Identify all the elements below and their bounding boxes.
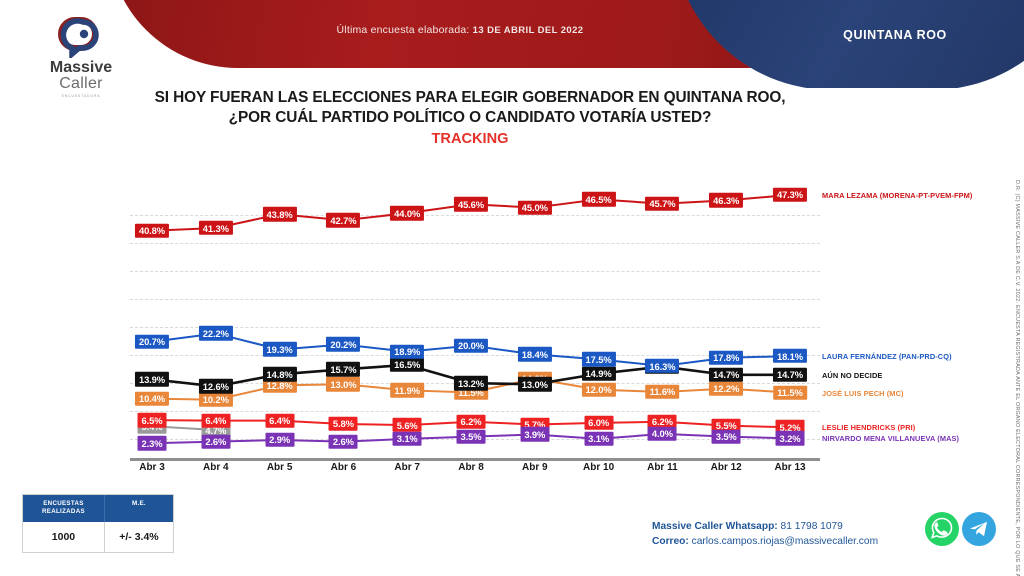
legend-item: NIRVARDO MENA VILLANUEVA (MAS) — [822, 434, 959, 443]
x-axis-tick: Abr 5 — [267, 462, 293, 473]
data-point-label: 6.5% — [138, 413, 167, 427]
data-point-label: 18.4% — [518, 347, 552, 361]
data-point-label: 15.7% — [326, 362, 360, 376]
data-point-label: 2.3% — [138, 436, 167, 450]
data-point-label: 43.8% — [263, 207, 297, 221]
x-axis-tick: Abr 3 — [139, 462, 165, 473]
email-address[interactable]: carlos.campos.riojas@massivecaller.com — [692, 536, 878, 547]
data-point-label: 6.0% — [584, 416, 613, 430]
data-point-label: 16.3% — [645, 359, 679, 373]
data-point-label: 45.0% — [518, 200, 552, 214]
email-label: Correo: — [652, 536, 689, 547]
data-point-label: 2.6% — [201, 434, 230, 448]
data-point-label: 14.7% — [773, 368, 807, 382]
data-point-label: 47.3% — [773, 188, 807, 202]
surveys-header: ENCUESTAS REALIZADAS — [23, 495, 104, 522]
state-name: QUINTANA ROO — [770, 28, 1020, 42]
data-point-label: 3.9% — [520, 427, 549, 441]
data-point-label: 45.7% — [645, 197, 679, 211]
data-point-label: 12.6% — [199, 379, 233, 393]
data-point-label: 6.2% — [457, 415, 486, 429]
telegram-icon[interactable] — [962, 512, 996, 546]
data-point-label: 3.1% — [393, 432, 422, 446]
data-point-label: 44.0% — [390, 206, 424, 220]
legend-item: LESLIE HENDRICKS (PRI) — [822, 423, 915, 432]
data-point-label: 11.5% — [773, 385, 807, 399]
chart-baseline — [130, 458, 820, 461]
data-point-label: 18.1% — [773, 349, 807, 363]
data-point-label: 2.6% — [329, 434, 358, 448]
data-point-label: 11.9% — [390, 383, 424, 397]
data-point-label: 13.9% — [135, 372, 169, 386]
whatsapp-icon[interactable] — [925, 512, 959, 546]
data-point-label: 17.5% — [582, 352, 616, 366]
tracking-line-chart: 5.4%4.7%10.4%10.2%12.8%13.0%11.9%11.5%14… — [130, 168, 820, 460]
data-point-label: 3.2% — [776, 431, 805, 445]
data-point-label: 16.5% — [390, 358, 424, 372]
survey-date-value: 13 DE ABRIL DEL 2022 — [473, 25, 584, 36]
data-point-label: 22.2% — [199, 326, 233, 340]
data-point-label: 40.8% — [135, 224, 169, 238]
data-point-label: 46.5% — [582, 192, 616, 206]
x-axis-tick: Abr 11 — [647, 462, 678, 473]
legend-item: JOSÉ LUIS PECH (MC) — [822, 389, 904, 398]
data-point-label: 2.9% — [265, 433, 294, 447]
data-point-label: 3.5% — [457, 429, 486, 443]
data-point-label: 13.2% — [454, 376, 488, 390]
chart-x-axis: Abr 3Abr 4Abr 5Abr 6Abr 7Abr 8Abr 9Abr 1… — [130, 462, 820, 480]
question-line-1: SI HOY FUERAN LAS ELECCIONES PARA ELEGIR… — [0, 88, 940, 108]
brand-logo: Massive Caller ENCUESTADORA — [26, 12, 136, 98]
data-point-label: 20.7% — [135, 335, 169, 349]
brand-name-line1: Massive — [26, 60, 136, 76]
sample-info-table: ENCUESTAS REALIZADAS M.E. 1000 +/- 3.4% — [22, 494, 174, 553]
x-axis-tick: Abr 7 — [394, 462, 420, 473]
whatsapp-label: Massive Caller Whatsapp: — [652, 521, 778, 532]
data-point-label: 14.9% — [582, 367, 616, 381]
margin-error-header: M.E. — [104, 495, 173, 522]
whatsapp-line: Massive Caller Whatsapp: 81 1798 1079 — [652, 519, 878, 534]
data-point-label: 11.6% — [646, 385, 680, 399]
data-point-label: 20.0% — [454, 338, 488, 352]
data-point-label: 10.2% — [199, 392, 233, 406]
sample-info-header-row: ENCUESTAS REALIZADAS M.E. — [23, 495, 173, 522]
data-point-label: 10.4% — [135, 391, 169, 405]
contact-block: Massive Caller Whatsapp: 81 1798 1079 Co… — [652, 519, 878, 550]
data-point-label: 20.2% — [326, 337, 360, 351]
tracking-label: TRACKING — [0, 131, 940, 147]
x-axis-tick: Abr 4 — [203, 462, 229, 473]
data-point-label: 4.0% — [648, 427, 677, 441]
margin-error-value: +/- 3.4% — [104, 522, 173, 552]
data-point-label: 19.3% — [263, 342, 297, 356]
sample-info-value-row: 1000 +/- 3.4% — [23, 522, 173, 552]
x-axis-tick: Abr 6 — [331, 462, 357, 473]
data-point-label: 42.7% — [326, 213, 360, 227]
x-axis-tick: Abr 10 — [583, 462, 614, 473]
data-point-label: 12.2% — [709, 381, 743, 395]
legend-item: AÚN NO DECIDE — [822, 371, 882, 380]
legend-item: LAURA FERNÁNDEZ (PAN-PRD-CQ) — [822, 352, 952, 361]
data-point-label: 12.0% — [582, 383, 616, 397]
data-point-label: 41.3% — [199, 221, 233, 235]
data-point-label: 46.3% — [709, 193, 743, 207]
data-point-label: 3.1% — [584, 432, 613, 446]
data-point-label: 17.8% — [709, 351, 743, 365]
x-axis-tick: Abr 12 — [711, 462, 742, 473]
legend-item: MARA LEZAMA (MORENA-PT-PVEM-FPM) — [822, 191, 972, 200]
data-point-label: 14.8% — [263, 367, 297, 381]
massive-caller-logo-icon — [53, 12, 109, 58]
header-blue-banner — [672, 0, 1024, 88]
page-header: Última encuesta elaborada: 13 DE ABRIL D… — [0, 0, 1024, 88]
data-point-label: 13.0% — [518, 377, 552, 391]
whatsapp-number[interactable]: 81 1798 1079 — [781, 521, 843, 532]
question-line-2: ¿POR CUÁL PARTIDO POLÍTICO O CANDIDATO V… — [0, 108, 940, 128]
chart-title-block: SI HOY FUERAN LAS ELECCIONES PARA ELEGIR… — [0, 88, 940, 147]
survey-date-label: Última encuesta elaborada: — [337, 24, 470, 36]
data-point-label: 18.9% — [390, 344, 424, 358]
survey-date: Última encuesta elaborada: 13 DE ABRIL D… — [250, 24, 670, 36]
data-point-label: 13.0% — [326, 377, 360, 391]
x-axis-tick: Abr 9 — [522, 462, 548, 473]
surveys-value: 1000 — [23, 522, 104, 552]
email-line: Correo: carlos.campos.riojas@massivecall… — [652, 534, 878, 549]
x-axis-tick: Abr 8 — [458, 462, 484, 473]
data-point-label: 45.6% — [454, 197, 488, 211]
data-point-label: 5.8% — [329, 417, 358, 431]
data-point-label: 5.6% — [393, 418, 422, 432]
data-point-label: 6.4% — [201, 413, 230, 427]
data-point-label: 6.4% — [265, 413, 294, 427]
copyright-notice: D.R. (C) MASSIVE CALLER S.A DE C.V. 2022… — [1012, 180, 1021, 480]
data-point-label: 14.7% — [709, 368, 743, 382]
data-point-label: 3.5% — [712, 429, 741, 443]
x-axis-tick: Abr 13 — [774, 462, 805, 473]
